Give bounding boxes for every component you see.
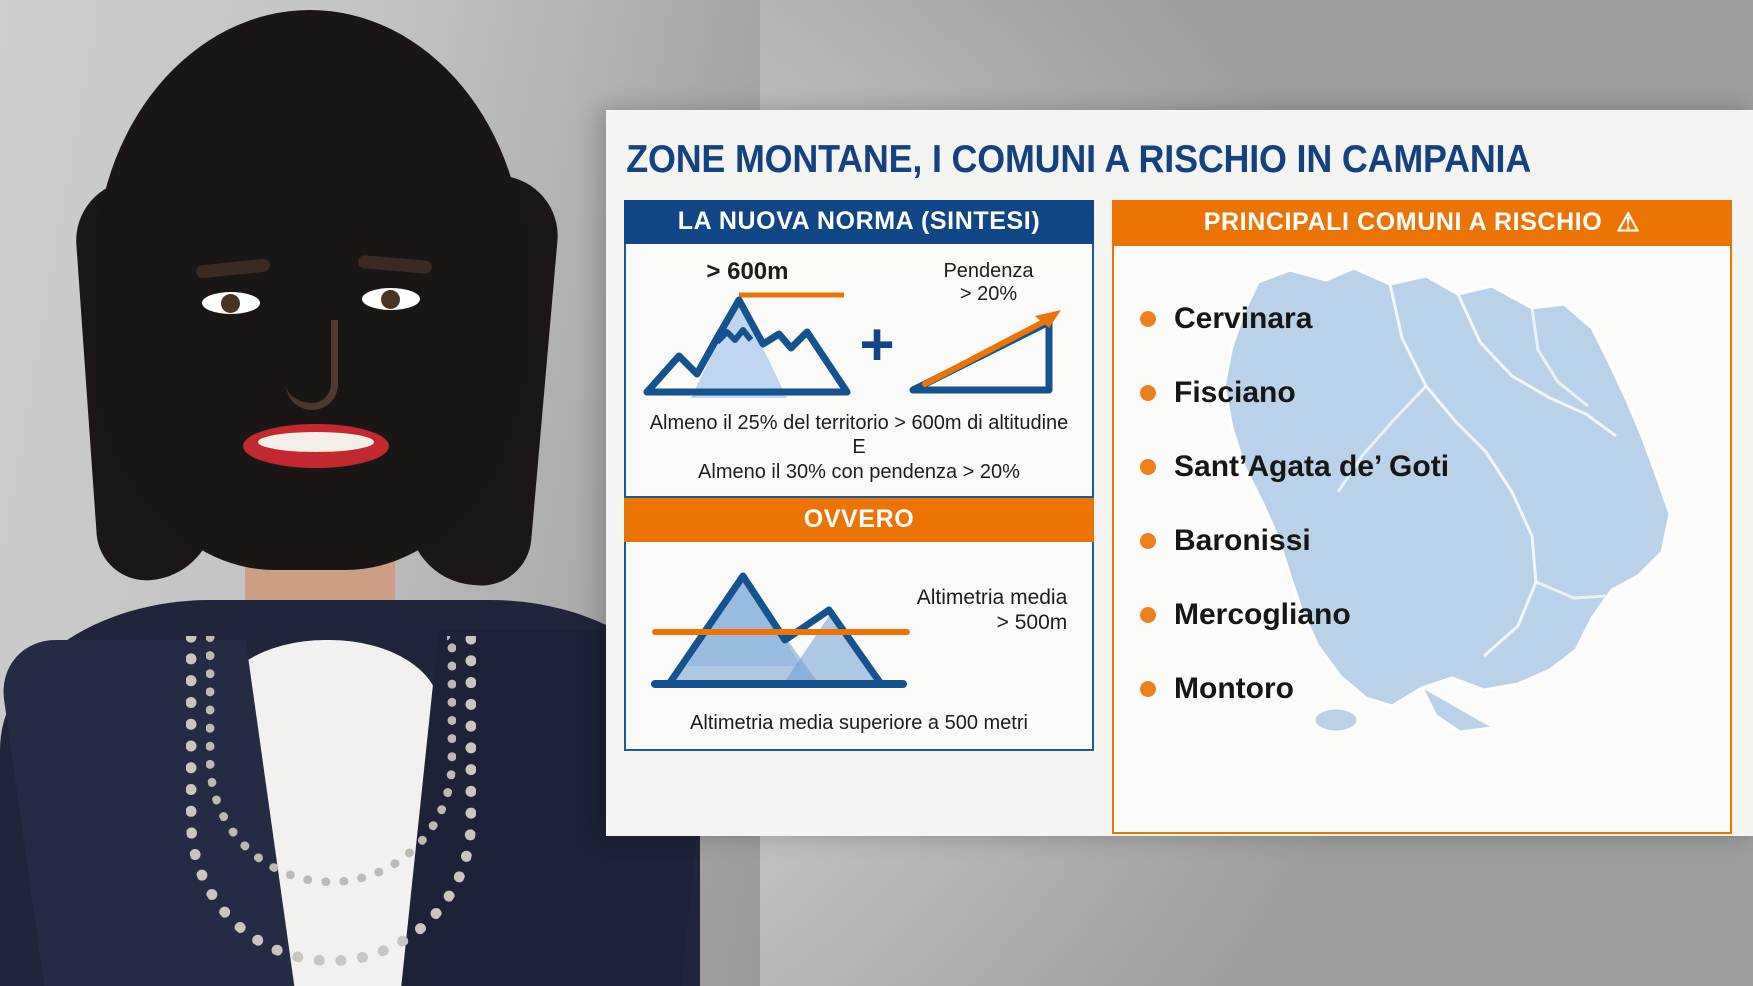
- city-name: Baronissi: [1174, 524, 1311, 558]
- iris-right: [381, 290, 400, 309]
- altitude-criterion: > 600m: [639, 258, 855, 403]
- infographic-body: LA NUOVA NORMA (SINTESI) > 600m: [606, 182, 1753, 834]
- warning-triangle-icon: ⚠: [1616, 207, 1640, 238]
- ovvero-panel: Altimetria media > 500m Altimetria media…: [624, 542, 1094, 751]
- norma-panel: > 600m + Pendenza > 20%: [624, 244, 1094, 498]
- altimetry-caption: Altimetria media superiore a 500 metri: [626, 708, 1092, 749]
- teeth: [258, 432, 374, 452]
- altitude-label: > 600m: [639, 258, 855, 286]
- slope-icon: [899, 306, 1079, 398]
- map-panel: Cervinara Fisciano Sant’Agata de’ Goti B…: [1112, 246, 1732, 834]
- city-name: Cervinara: [1174, 302, 1312, 336]
- bullet-dot-icon: [1140, 459, 1156, 475]
- slope-label-line2: > 20%: [899, 283, 1079, 306]
- eye-left: [202, 292, 260, 314]
- bullet-dot-icon: [1140, 533, 1156, 549]
- criteria-caption: Almeno il 25% del territorio > 600m di a…: [626, 407, 1092, 496]
- criteria-line-1: Almeno il 25% del territorio > 600m di a…: [650, 412, 1069, 434]
- criteria-line-2: E: [634, 435, 1084, 459]
- list-item[interactable]: Cervinara: [1140, 282, 1449, 356]
- slope-criterion: Pendenza > 20%: [899, 260, 1079, 403]
- list-item[interactable]: Baronissi: [1140, 504, 1449, 578]
- left-panel-header: LA NUOVA NORMA (SINTESI): [624, 200, 1094, 244]
- necklace-inner: [206, 636, 456, 886]
- city-name: Sant’Agata de’ Goti: [1174, 450, 1449, 484]
- nose: [286, 320, 338, 410]
- hair-top: [95, 10, 525, 570]
- altimetry-label-line2: > 500m: [917, 610, 1068, 635]
- list-item[interactable]: Sant’Agata de’ Goti: [1140, 430, 1449, 504]
- bullet-dot-icon: [1140, 385, 1156, 401]
- slope-label-line1: Pendenza: [899, 260, 1079, 283]
- person-portrait: [0, 0, 700, 986]
- criteria-line-3: Almeno il 30% con pendenza > 20%: [634, 460, 1084, 484]
- right-panel-header-label: PRINCIPALI COMUNI A RISCHIO: [1204, 208, 1603, 237]
- bullet-dot-icon: [1140, 681, 1156, 697]
- plus-sign: +: [859, 315, 894, 403]
- average-altitude-mountain-icon: [651, 558, 911, 708]
- eye-right: [362, 288, 420, 310]
- criteria-icons-row: > 600m + Pendenza > 20%: [626, 244, 1092, 407]
- city-list: Cervinara Fisciano Sant’Agata de’ Goti B…: [1140, 282, 1449, 726]
- city-name: Mercogliano: [1174, 598, 1351, 632]
- altimetry-diagram: Altimetria media > 500m: [626, 542, 1092, 708]
- mountain-icon: [639, 286, 855, 398]
- list-item[interactable]: Fisciano: [1140, 356, 1449, 430]
- right-panel-header: PRINCIPALI COMUNI A RISCHIO ⚠: [1112, 200, 1732, 246]
- city-name: Montoro: [1174, 672, 1294, 706]
- ovvero-header: OVVERO: [624, 498, 1094, 542]
- city-name: Fisciano: [1174, 376, 1296, 410]
- bullet-dot-icon: [1140, 607, 1156, 623]
- infographic-title: ZONE MONTANE, I COMUNI A RISCHIO IN CAMP…: [606, 110, 1661, 182]
- altimetry-label-line1: Altimetria media: [917, 585, 1068, 610]
- list-item[interactable]: Mercogliano: [1140, 578, 1449, 652]
- list-item[interactable]: Montoro: [1140, 652, 1449, 726]
- altimetry-label: Altimetria media > 500m: [917, 585, 1068, 635]
- right-column: PRINCIPALI COMUNI A RISCHIO ⚠: [1112, 200, 1732, 834]
- infographic-card: ZONE MONTANE, I COMUNI A RISCHIO IN CAMP…: [606, 110, 1753, 836]
- left-column: LA NUOVA NORMA (SINTESI) > 600m: [624, 200, 1094, 834]
- bullet-dot-icon: [1140, 311, 1156, 327]
- iris-left: [221, 294, 240, 313]
